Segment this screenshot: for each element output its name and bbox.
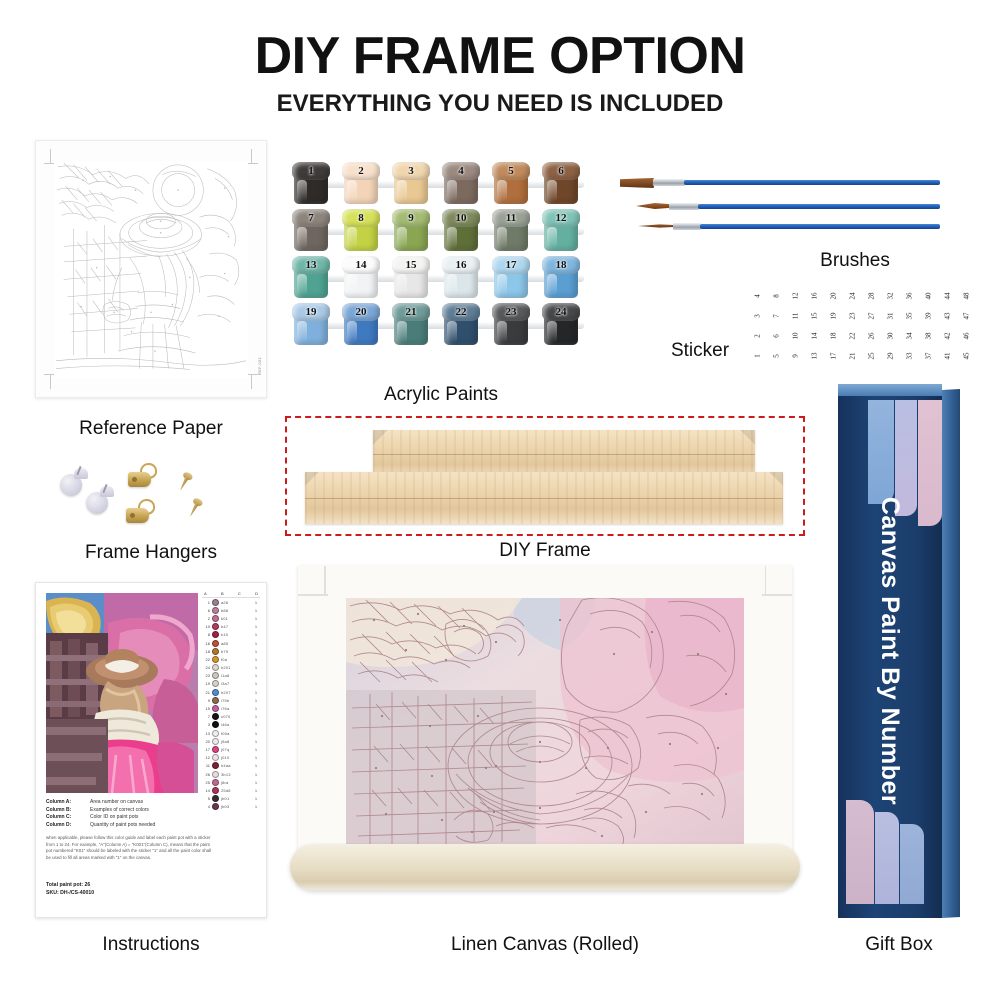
frame-bar-top [373, 430, 755, 478]
brush-ferrule [669, 203, 699, 210]
legend-area-number: 2 [203, 616, 210, 621]
sticker-number: 19 [824, 307, 844, 326]
column-definition-line: Column C:Color ID on paint pots [46, 814, 196, 822]
frame-miter-right [749, 472, 783, 524]
legend-quantity: 1 [253, 608, 259, 613]
legend-color-code: k15 [221, 632, 251, 637]
legend-color-swatch [212, 656, 219, 663]
paint-pot: 10 [442, 209, 480, 253]
legend-area-number: 25 [203, 780, 210, 785]
sticker-number: 37 [919, 347, 939, 366]
legend-area-number: 13 [203, 731, 210, 736]
legend-quantity: 1 [253, 796, 259, 801]
legend-quantity: 1 [253, 706, 259, 711]
paint-pot-gloss [297, 274, 307, 296]
paint-pot: 9 [392, 209, 430, 253]
column-definition-line: Column D:Quantity of paint pots needed [46, 822, 196, 830]
legend-row: 7c0701 [202, 713, 260, 721]
paint-pot-gloss [547, 274, 557, 296]
canvas-crop-mark [765, 566, 767, 596]
paint-pot-gloss [297, 321, 307, 343]
total-paint-pot: Total paint pot: 26 [46, 881, 196, 889]
legend-area-number: 9 [203, 698, 210, 703]
sticker-number: 17 [824, 347, 844, 366]
reference-line-art [54, 161, 248, 379]
legend-row: 12j0101 [202, 754, 260, 762]
legend-color-swatch [212, 771, 219, 778]
canvas-crop-mark [298, 594, 328, 596]
paint-pot: 14 [342, 256, 380, 300]
column-value: Area number on canvas [90, 799, 143, 807]
legend-color-swatch [212, 803, 219, 810]
paint-pot-gloss [447, 321, 457, 343]
sticker-number: 40 [919, 287, 939, 306]
legend-color-swatch [212, 795, 219, 802]
sticker-number: 30 [881, 327, 901, 346]
paint-pot-gloss [497, 274, 507, 296]
legend-row: 23i1a81 [202, 672, 260, 680]
legend-row: 3i46a1 [202, 721, 260, 729]
reference-art-svg [54, 161, 248, 374]
column-definition-line: Column B:Examples of correct colors [46, 807, 196, 815]
paint-pot-number: 10 [442, 210, 480, 226]
legend-area-number: 19 [203, 681, 210, 686]
paint-pot-gloss [447, 180, 457, 202]
column-value: Examples of correct colors [90, 807, 149, 815]
legend-quantity: 1 [253, 681, 259, 686]
legend-color-code: h4aa [221, 763, 251, 768]
legend-color-swatch [212, 623, 219, 630]
canvas-crop-mark [762, 594, 792, 596]
sticker-number: 10 [786, 327, 806, 346]
screw-head [192, 497, 204, 508]
legend-area-number: 1 [203, 600, 210, 605]
sticker-number-grid: 4812162024283236404448371115192327313539… [748, 286, 976, 366]
caption-instructions: Instructions [35, 934, 267, 956]
frame-miter-right [721, 430, 755, 478]
legend-color-swatch [212, 705, 219, 712]
legend-color-swatch [212, 672, 219, 679]
page-subtitle: EVERYTHING YOU NEED IS INCLUDED [0, 90, 1000, 118]
brush-bristles [636, 203, 670, 209]
d-ring-hanger [126, 498, 158, 528]
sticker-number: 33 [900, 347, 920, 366]
brush-round [636, 202, 940, 211]
reference-side-code: REF-001 [257, 357, 262, 375]
paint-pot: 20 [342, 303, 380, 347]
column-key: Column B: [46, 807, 84, 815]
sticker-number: 4 [748, 287, 768, 306]
legend-row: 16a851 [202, 639, 260, 647]
legend-color-swatch [212, 664, 219, 671]
sticker-number: 47 [957, 307, 977, 326]
paint-pot: 21 [392, 303, 430, 347]
caption-gift-box: Gift Box [838, 934, 960, 956]
paint-pot: 11 [492, 209, 530, 253]
sticker-number: 1 [748, 347, 768, 366]
brush-handle [684, 180, 940, 185]
legend-row: 2k011 [202, 614, 260, 622]
legend-color-code: h201 [221, 665, 251, 670]
legend-quantity: 1 [253, 665, 259, 670]
paint-pot: 2 [342, 162, 380, 206]
sticker-number: 26 [862, 327, 882, 346]
legend-color-swatch [212, 697, 219, 704]
sticker-number: 12 [786, 287, 806, 306]
legend-header-d: D [255, 591, 258, 596]
legend-quantity: 1 [253, 657, 259, 662]
legend-color-code: i76a [221, 706, 251, 711]
legend-row: 10b471 [202, 623, 260, 631]
sticker-number: 31 [881, 307, 901, 326]
legend-color-swatch [212, 738, 219, 745]
legend-quantity: 1 [253, 624, 259, 629]
legend-row: 19i3a71 [202, 680, 260, 688]
paint-pot: 24 [542, 303, 580, 347]
legend-quantity: 1 [253, 690, 259, 695]
gift-box-group: Canvas Paint By Number [838, 384, 960, 918]
paint-pot-number: 2 [342, 163, 380, 179]
legend-color-code: k01 [221, 616, 251, 621]
legend-quantity: 1 [253, 616, 259, 621]
legend-row: 24h2011 [202, 664, 260, 672]
legend-color-swatch [212, 689, 219, 696]
canvas-crop-mark [324, 566, 326, 596]
sticker-number: 24 [843, 287, 863, 306]
instructions-sheet: A B C D 1a2616b8812k01110b4718k15116a851… [35, 582, 267, 918]
legend-quantity: 1 [253, 722, 259, 727]
column-value: Quantity of paint pots needed [90, 822, 155, 830]
sticker-number: 14 [805, 327, 825, 346]
brush-liner [638, 222, 940, 231]
legend-area-number: 7 [203, 714, 210, 719]
caption-linen-canvas: Linen Canvas (Rolled) [290, 934, 800, 956]
brush-ferrule [653, 179, 685, 186]
paint-pot-number: 19 [292, 304, 330, 320]
legend-color-code: a85 [221, 641, 251, 646]
legend-color-code: f0a [221, 657, 251, 662]
paint-pot-gloss [547, 321, 557, 343]
instructions-preview-image [46, 593, 198, 793]
instructions-note: when applicable, please follow this colo… [46, 835, 216, 861]
legend-color-code: j5a8 [221, 739, 251, 744]
legend-row: 8k151 [202, 631, 260, 639]
column-definitions: Column A:Area number on canvasColumn B:E… [46, 799, 196, 829]
screw [178, 472, 192, 492]
paint-pot: 13 [292, 256, 330, 300]
paint-pot-gloss [347, 227, 357, 249]
legend-row: 21h2071 [202, 688, 260, 696]
paint-pot: 17 [492, 256, 530, 300]
legend-row: 4jb031 [202, 803, 260, 811]
legend-area-number: 15 [203, 706, 210, 711]
legend-row: 22f0a1 [202, 655, 260, 663]
sticker-number: 34 [900, 327, 920, 346]
legend-area-number: 4 [203, 804, 210, 809]
canvas-roll [290, 844, 800, 890]
legend-color-code: i75b [221, 698, 251, 703]
legend-area-number: 20 [203, 739, 210, 744]
legend-area-number: 3 [203, 722, 210, 727]
paint-pot-gloss [347, 321, 357, 343]
paint-pot-number: 9 [392, 210, 430, 226]
paint-pot-number: 5 [492, 163, 530, 179]
legend-quantity: 1 [253, 649, 259, 654]
paint-pot: 23 [492, 303, 530, 347]
legend-quantity: 1 [253, 804, 259, 809]
sticker-number: 5 [767, 347, 787, 366]
legend-row: 20j5a81 [202, 737, 260, 745]
legend-color-swatch [212, 762, 219, 769]
column-key: Column A: [46, 799, 84, 807]
canvas-line-art [346, 598, 744, 848]
paint-pot-number: 12 [542, 210, 580, 226]
sticker-number: 29 [881, 347, 901, 366]
legend-color-code: j8ra [221, 780, 251, 785]
sticker-number: 43 [938, 307, 958, 326]
legend-color-code: 25d6 [221, 788, 251, 793]
brush-ferrule [673, 223, 701, 230]
sticker-number: 45 [957, 347, 977, 366]
legend-header-b: B [221, 591, 224, 596]
legend-color-swatch [212, 648, 219, 655]
paint-pot-number: 20 [342, 304, 380, 320]
sku-code: SKU: DH-/CS-40010 [46, 889, 196, 897]
legend-row: 13f00a1 [202, 729, 260, 737]
legend-color-code: i3a7 [221, 681, 251, 686]
legend-row: 17j07q1 [202, 745, 260, 753]
legend-area-number: 22 [203, 657, 210, 662]
frame-seam [305, 498, 783, 499]
frame-miter-left [373, 430, 407, 478]
frame-miter-left [305, 472, 339, 524]
sticker-number: 15 [805, 307, 825, 326]
paint-pot: 5 [492, 162, 530, 206]
caption-diy-frame: DIY Frame [285, 540, 805, 562]
legend-color-code: j010 [221, 755, 251, 760]
paint-pot-gloss [397, 227, 407, 249]
legend-row: 5jb011 [202, 795, 260, 803]
sticker-number: 36 [900, 287, 920, 306]
paint-pot: 15 [392, 256, 430, 300]
legend-area-number: 8 [203, 632, 210, 637]
legend-quantity: 1 [253, 600, 259, 605]
caption-acrylic-paints: Acrylic Paints [292, 384, 590, 406]
paint-pot-number: 17 [492, 257, 530, 273]
paint-pot-gloss [497, 180, 507, 202]
caption-frame-hangers: Frame Hangers [35, 542, 267, 564]
paint-pot-number: 16 [442, 257, 480, 273]
brush-handle [700, 224, 940, 229]
sticker-number: 11 [786, 307, 806, 326]
legend-color-code: i46a [221, 722, 251, 727]
paint-pot-number: 6 [542, 163, 580, 179]
legend-color-swatch [212, 713, 219, 720]
instructions-totals: Total paint pot: 26 SKU: DH-/CS-40010 [46, 881, 196, 897]
legend-header-row: A B C D [202, 591, 260, 598]
legend-quantity: 1 [253, 731, 259, 736]
paint-pot-gloss [347, 180, 357, 202]
paint-pot-gloss [547, 180, 557, 202]
legend-row: 263b131 [202, 770, 260, 778]
paint-pot: 7 [292, 209, 330, 253]
paint-pot-gloss [397, 321, 407, 343]
paint-pot: 22 [442, 303, 480, 347]
legend-area-number: 11 [203, 763, 210, 768]
legend-color-swatch [212, 779, 219, 786]
paint-pot-number: 4 [442, 163, 480, 179]
legend-quantity: 1 [253, 673, 259, 678]
sticker-number: 6 [767, 327, 787, 346]
column-value: Color ID on paint pots [90, 814, 138, 822]
legend-area-number: 21 [203, 690, 210, 695]
paint-pot-number: 21 [392, 304, 430, 320]
paint-pot-number: 13 [292, 257, 330, 273]
legend-row: 9i75b1 [202, 696, 260, 704]
legend-quantity: 1 [253, 772, 259, 777]
color-legend-table: A B C D 1a2616b8812k01110b4718k15116a851… [202, 591, 260, 827]
legend-color-code: b79 [221, 649, 251, 654]
legend-color-code: jb01 [221, 796, 251, 801]
sticker-number: 27 [862, 307, 882, 326]
paint-pot-number: 1 [292, 163, 330, 179]
legend-color-swatch [212, 631, 219, 638]
paint-pot-gloss [497, 321, 507, 343]
linen-canvas-group [290, 562, 800, 914]
sticker-number: 20 [824, 287, 844, 306]
paint-pot-number: 11 [492, 210, 530, 226]
paint-pot-gloss [347, 274, 357, 296]
legend-quantity: 1 [253, 641, 259, 646]
legend-row: 1a261 [202, 598, 260, 606]
diy-frame-group [285, 416, 805, 536]
legend-color-code: 3b13 [221, 772, 251, 777]
crop-mark [251, 149, 252, 163]
d-ring-hanger [128, 462, 160, 492]
legend-header-c: C [238, 591, 241, 596]
acrylic-paints-group: 123456789101112131415161718192021222324 [292, 162, 590, 358]
paint-pot-number: 15 [392, 257, 430, 273]
crop-mark [50, 375, 51, 389]
paint-pot: 16 [442, 256, 480, 300]
legend-color-swatch [212, 640, 219, 647]
legend-color-code: c070 [221, 714, 251, 719]
reference-paper-sheet: REF-001 [35, 140, 267, 398]
legend-area-number: 12 [203, 755, 210, 760]
paint-pot-number: 8 [342, 210, 380, 226]
paint-pot-gloss [397, 274, 407, 296]
gift-box-label: Canvas Paint By Number [838, 384, 942, 918]
paint-pot-gloss [447, 227, 457, 249]
legend-row: 25j8ra1 [202, 778, 260, 786]
legend-color-swatch [212, 730, 219, 737]
d-ring-hole [132, 477, 137, 482]
paint-pot: 12 [542, 209, 580, 253]
paint-pot: 1 [292, 162, 330, 206]
infographic-page: DIY FRAME OPTION EVERYTHING YOU NEED IS … [0, 0, 1000, 1000]
paint-pot-number: 7 [292, 210, 330, 226]
paint-pot: 6 [542, 162, 580, 206]
frame-hangers-group [60, 462, 235, 548]
sticker-number: 39 [919, 307, 939, 326]
screw-head [182, 471, 194, 482]
legend-quantity: 1 [253, 632, 259, 637]
legend-color-swatch [212, 787, 219, 794]
sticker-number: 21 [843, 347, 863, 366]
paint-pot-number: 23 [492, 304, 530, 320]
paint-pot: 4 [442, 162, 480, 206]
legend-color-code: f00a [221, 731, 251, 736]
legend-color-code: j07q [221, 747, 251, 752]
caption-reference-paper: Reference Paper [35, 418, 267, 440]
brush-bristles [638, 224, 674, 228]
legend-quantity: 1 [253, 739, 259, 744]
brush-bristles [620, 178, 654, 188]
legend-color-swatch [212, 754, 219, 761]
paint-pot-gloss [447, 274, 457, 296]
sticker-number: 2 [748, 327, 768, 346]
sticker-number: 7 [767, 307, 787, 326]
legend-quantity: 1 [253, 755, 259, 760]
caption-sticker: Sticker [650, 340, 750, 362]
legend-area-number: 26 [203, 772, 210, 777]
legend-quantity: 1 [253, 698, 259, 703]
legend-color-code: i1a8 [221, 673, 251, 678]
plastic-hook [86, 484, 116, 518]
sticker-number: 16 [805, 287, 825, 306]
sticker-number: 18 [824, 327, 844, 346]
legend-quantity: 1 [253, 788, 259, 793]
legend-color-code: h207 [221, 690, 251, 695]
paint-pot-number: 18 [542, 257, 580, 273]
crop-mark [50, 149, 51, 163]
paint-pot: 3 [392, 162, 430, 206]
gift-box-front: Canvas Paint By Number [838, 384, 942, 918]
legend-quantity: 1 [253, 763, 259, 768]
legend-row: 11h4aa1 [202, 762, 260, 770]
canvas-art-svg [346, 598, 744, 848]
legend-row: 18b791 [202, 647, 260, 655]
paint-pot-gloss [297, 227, 307, 249]
sticker-number: 8 [767, 287, 787, 306]
legend-area-number: 14 [203, 788, 210, 793]
d-ring-hole [130, 513, 135, 518]
sticker-number: 42 [938, 327, 958, 346]
screw-shaft [179, 477, 189, 491]
instructions-artwork-svg [46, 593, 198, 793]
sticker-number: 38 [919, 327, 939, 346]
frame-seam [373, 454, 755, 455]
legend-color-code: jb03 [221, 804, 251, 809]
legend-quantity: 1 [253, 714, 259, 719]
paint-pot-number: 14 [342, 257, 380, 273]
gift-box-side [942, 389, 960, 918]
paint-pot-number: 22 [442, 304, 480, 320]
legend-header-a: A [204, 591, 207, 596]
legend-row: 6b881 [202, 606, 260, 614]
legend-color-code: a26 [221, 600, 251, 605]
legend-color-swatch [212, 599, 219, 606]
legend-area-number: 16 [203, 641, 210, 646]
legend-area-number: 17 [203, 747, 210, 752]
sticker-number: 3 [748, 307, 768, 326]
page-title: DIY FRAME OPTION [0, 26, 1000, 86]
paint-pot: 19 [292, 303, 330, 347]
legend-area-number: 24 [203, 665, 210, 670]
sticker-number: 41 [938, 347, 958, 366]
sticker-number: 48 [957, 287, 977, 306]
brushes-group [620, 170, 960, 250]
